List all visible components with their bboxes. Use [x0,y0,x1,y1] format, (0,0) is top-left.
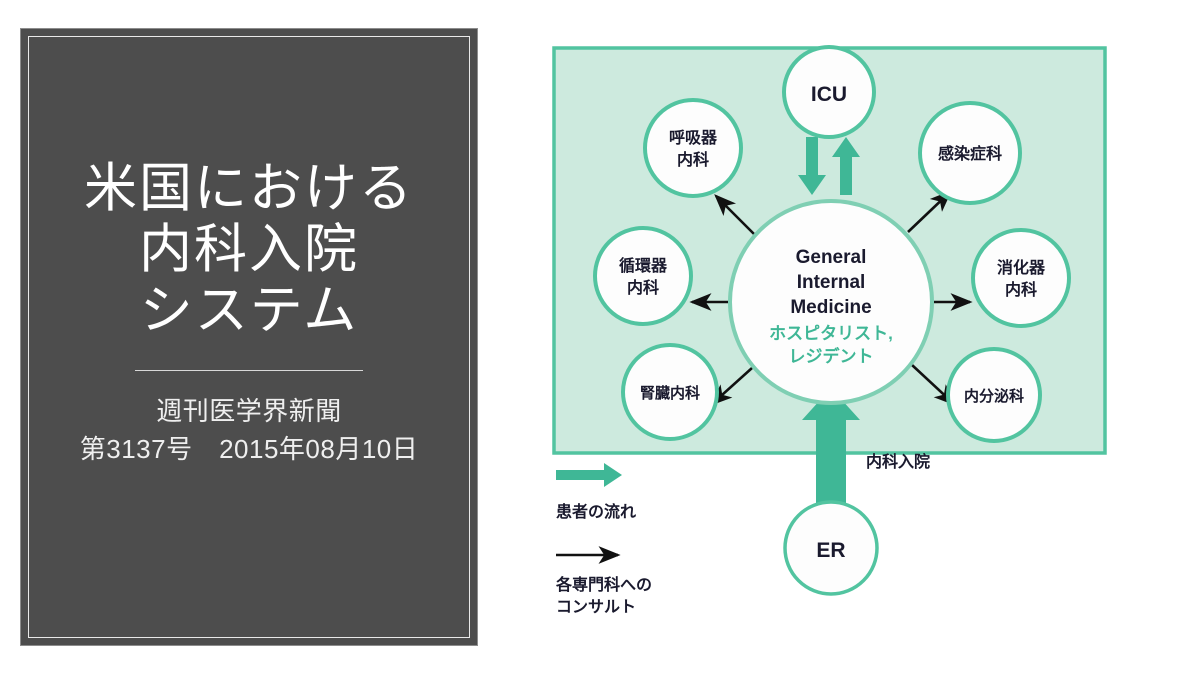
title-divider [135,370,363,371]
node-cardiology-line-1: 循環器 [619,256,668,275]
center-en-line-1: General [796,247,867,268]
node-icu[interactable]: ICU [784,47,874,137]
node-respiratory[interactable]: 呼吸器 内科 [645,100,741,196]
node-nephrology-line-1: 腎臓内科 [640,384,700,402]
center-en-line-2: Internal [797,272,866,293]
center-jp-line-1: ホスピタリスト, [769,324,893,343]
node-icu-label: ICU [811,83,847,106]
node-gastro[interactable]: 消化器 内科 [973,230,1069,326]
title-slide: 米国における 内科入院 システム 週刊医学界新聞 第3137号 2015年08月… [20,28,478,646]
node-infectious-line-1: 感染症科 [938,144,1002,163]
node-er-label: ER [816,539,845,562]
node-respiratory-line-2: 内科 [677,150,709,169]
legend-consult-line-2: コンサルト [556,598,636,616]
node-cardiology[interactable]: 循環器 内科 [595,228,691,324]
node-endocrine[interactable]: 内分泌科 [948,349,1040,441]
hospital-system-diagram: General Internal Medicine ホスピタリスト, レジデント… [530,20,1190,660]
legend-patient-flow: 患者の流れ [556,463,636,521]
node-er[interactable]: ER [785,502,877,594]
node-gastro-line-2: 内科 [1005,280,1037,299]
node-endocrine-line-1: 内分泌科 [964,387,1024,405]
center-en-line-3: Medicine [790,297,871,318]
subtitle-line-2: 第3137号 2015年08月10日 [21,431,477,469]
slide-text-block: 米国における 内科入院 システム 週刊医学界新聞 第3137号 2015年08月… [21,159,477,468]
central-node-general-internal-medicine[interactable]: General Internal Medicine ホスピタリスト, レジデント [730,201,932,403]
thick-teal-arrow-icon [556,463,622,487]
node-cardiology-line-2: 内科 [627,278,659,297]
center-jp-line-2: レジデント [789,346,874,366]
node-nephrology[interactable]: 腎臓内科 [623,345,717,439]
node-gastro-line-1: 消化器 [997,258,1046,277]
page-title-line-3: システム [21,281,477,342]
node-infectious[interactable]: 感染症科 [920,103,1020,203]
legend-consult-line-1: 各専門科への [555,575,652,594]
admission-arrow-label: 内科入院 [866,452,930,471]
page-title-line-2: 内科入院 [21,220,477,281]
legend-patient-flow-label: 患者の流れ [556,502,636,521]
subtitle-line-1: 週刊医学界新聞 [21,393,477,431]
legend-consult: 各専門科への コンサルト [555,555,652,616]
page-title-line-1: 米国における [21,159,477,220]
node-respiratory-line-1: 呼吸器 [669,129,718,147]
